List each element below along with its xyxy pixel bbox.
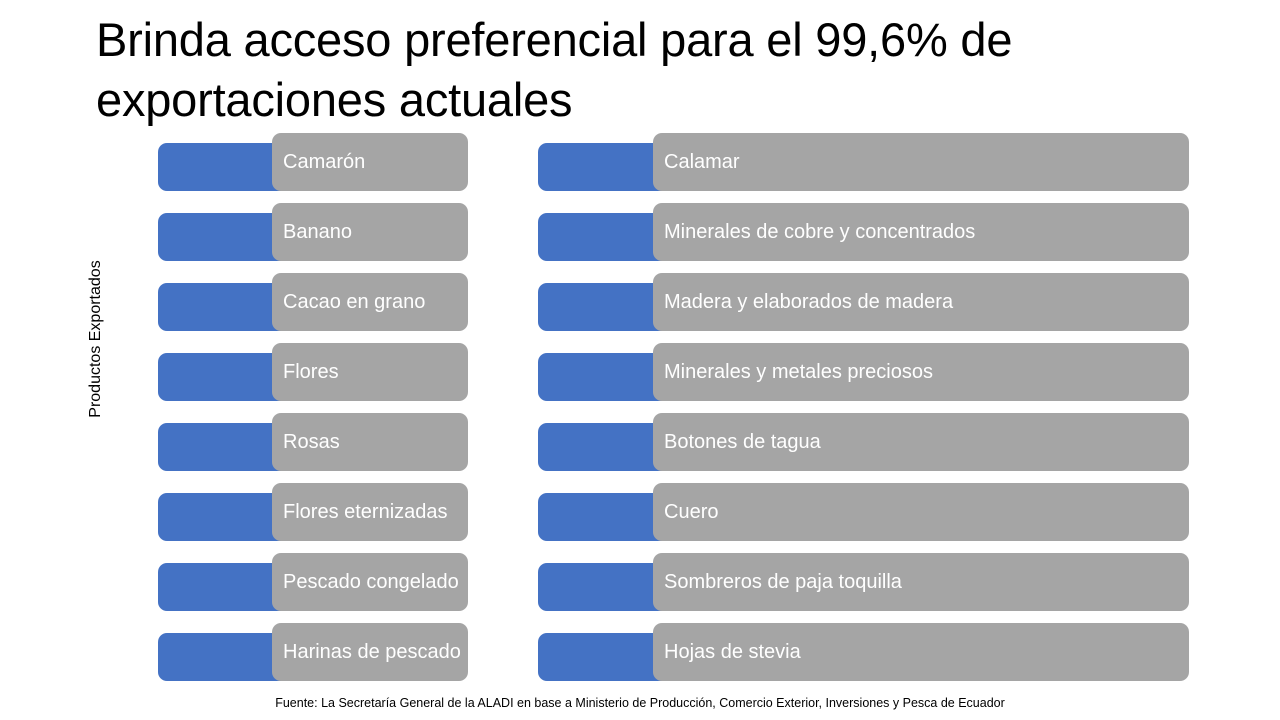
bar-blue-segment[interactable] (538, 493, 671, 541)
bar-label: Camarón (272, 150, 371, 175)
bar-blue-segment[interactable] (538, 423, 671, 471)
bar-label: Flores eternizadas (272, 500, 454, 525)
bar-grey-segment[interactable]: Rosas (272, 413, 468, 471)
bar-blue-segment[interactable] (158, 283, 290, 331)
bar-label: Cacao en grano (272, 290, 431, 315)
slide-canvas: Brinda acceso preferencial para el 99,6%… (0, 0, 1280, 720)
bar-blue-segment[interactable] (538, 283, 671, 331)
bar-label: Hojas de stevia (653, 640, 807, 665)
bar-grey-segment[interactable]: Calamar (653, 133, 1189, 191)
bar-grey-segment[interactable]: Banano (272, 203, 468, 261)
bar-grey-segment[interactable]: Minerales de cobre y concentrados (653, 203, 1189, 261)
bar-grey-segment[interactable]: Pescado congelado (272, 553, 468, 611)
bar-grey-segment[interactable]: Botones de tagua (653, 413, 1189, 471)
bar-blue-segment[interactable] (538, 143, 671, 191)
bar-label: Minerales de cobre y concentrados (653, 220, 981, 245)
bar-grey-segment[interactable]: Harinas de pescado (272, 623, 468, 681)
bar-blue-segment[interactable] (158, 423, 290, 471)
bar-blue-segment[interactable] (538, 353, 671, 401)
bar-grey-segment[interactable]: Sombreros de paja toquilla (653, 553, 1189, 611)
bar-blue-segment[interactable] (158, 563, 290, 611)
bar-label: Pescado congelado (272, 570, 465, 595)
bar-label: Cuero (653, 500, 724, 525)
bar-blue-segment[interactable] (158, 633, 290, 681)
bar-label: Minerales y metales preciosos (653, 360, 939, 385)
bar-blue-segment[interactable] (158, 143, 290, 191)
bar-blue-segment[interactable] (538, 563, 671, 611)
source-note: Fuente: La Secretaría General de la ALAD… (0, 696, 1280, 710)
bar-grey-segment[interactable]: Flores eternizadas (272, 483, 468, 541)
bar-grey-segment[interactable]: Hojas de stevia (653, 623, 1189, 681)
bar-label: Flores (272, 360, 345, 385)
bar-grey-segment[interactable]: Camarón (272, 133, 468, 191)
bar-label: Rosas (272, 430, 346, 455)
bar-label: Sombreros de paja toquilla (653, 570, 908, 595)
bar-grey-segment[interactable]: Minerales y metales preciosos (653, 343, 1189, 401)
bar-blue-segment[interactable] (158, 353, 290, 401)
chart-plot-area: Camarón Banano Cacao en grano Flores (0, 0, 1280, 720)
bar-label: Calamar (653, 150, 746, 175)
bar-label: Botones de tagua (653, 430, 827, 455)
bar-label: Banano (272, 220, 358, 245)
bar-grey-segment[interactable]: Madera y elaborados de madera (653, 273, 1189, 331)
bar-blue-segment[interactable] (158, 213, 290, 261)
bar-blue-segment[interactable] (158, 493, 290, 541)
bar-blue-segment[interactable] (538, 213, 671, 261)
bar-grey-segment[interactable]: Cuero (653, 483, 1189, 541)
bar-grey-segment[interactable]: Cacao en grano (272, 273, 468, 331)
bar-label: Harinas de pescado (272, 640, 467, 665)
bar-label: Madera y elaborados de madera (653, 290, 959, 315)
bar-grey-segment[interactable]: Flores (272, 343, 468, 401)
bar-blue-segment[interactable] (538, 633, 671, 681)
